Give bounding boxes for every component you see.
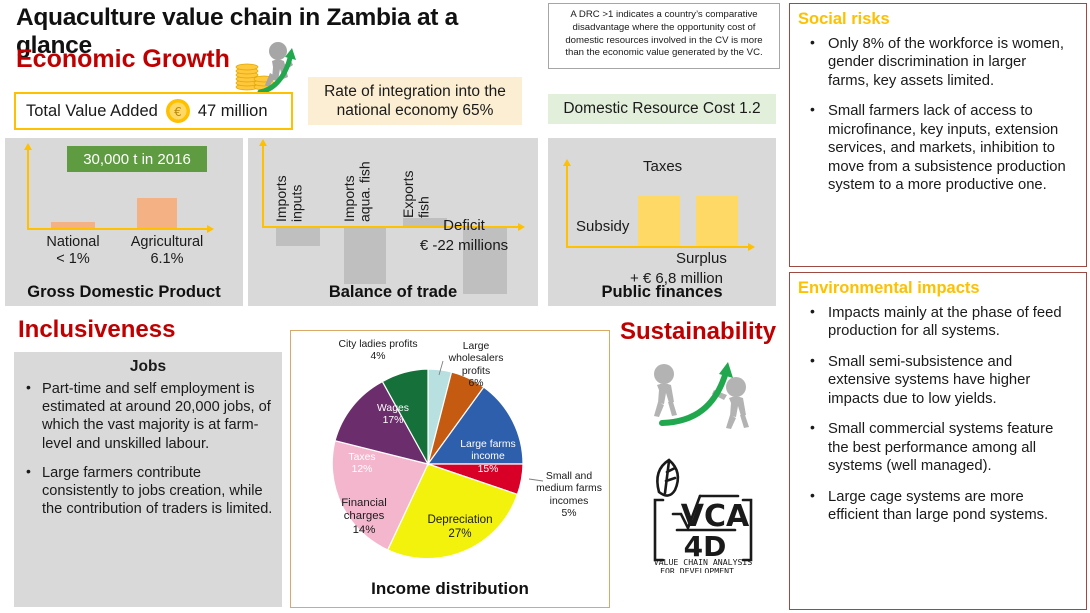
jobs-heading: Jobs bbox=[14, 352, 282, 378]
svg-text:€: € bbox=[174, 105, 182, 119]
pie-label-depreciation: Depreciation 27% bbox=[417, 513, 503, 540]
gdp-label-agricultural: Agricultural 6.1% bbox=[111, 234, 223, 269]
list-item: Large cage systems are more efficient th… bbox=[806, 488, 1070, 525]
pie-label-taxes: Taxes 12% bbox=[333, 452, 391, 477]
vca-logo-tagline2: FOR DEVELOPMENT bbox=[660, 566, 734, 573]
euro-coin-icon: € bbox=[165, 98, 191, 124]
list-item: Small farmers lack of access to microfin… bbox=[806, 102, 1070, 194]
balance-of-trade-panel: Imports inputs Imports aqua. fish Export… bbox=[248, 138, 538, 306]
pf-label-taxes: Taxes bbox=[643, 158, 682, 175]
list-item: Small semi-subsistence and extensive sys… bbox=[806, 353, 1070, 408]
list-item: Part-time and self employment is estimat… bbox=[22, 380, 274, 453]
pf-x-axis-arrow-icon bbox=[748, 243, 755, 251]
bot-deficit-annotation: Deficit € -22 millions bbox=[398, 216, 530, 255]
pf-bar-taxes bbox=[638, 196, 680, 246]
pie-label-small-medium-farms: Small and medium farms incomes 5% bbox=[531, 471, 607, 520]
bot-bar-imports-aqua-fish bbox=[344, 228, 386, 284]
gdp-x-axis-arrow-icon bbox=[207, 225, 214, 233]
gdp-label-national: National < 1% bbox=[27, 234, 119, 269]
pie-chart-caption: Income distribution bbox=[291, 579, 609, 599]
total-value-added-value: 47 million bbox=[198, 102, 268, 121]
vca4d-logo: VCA 4D VALUE CHAIN ANALYSIS FOR DEVELOPM… bbox=[645, 448, 765, 573]
bot-label-exports-fish: Exports fish bbox=[401, 148, 432, 218]
two-people-pushing-green-arrow-icon bbox=[640, 360, 770, 430]
gdp-bar-national bbox=[51, 222, 95, 228]
jobs-panel: Jobs Part-time and self employment is es… bbox=[14, 352, 282, 607]
bot-bar-imports-inputs bbox=[276, 228, 320, 246]
pie-label-financial-charges: Financial charges 14% bbox=[329, 497, 399, 537]
public-finances-panel: Taxes Subsidy Surplus + € 6,8 million Pu… bbox=[548, 138, 776, 306]
bot-y-axis-arrow-icon bbox=[259, 139, 267, 146]
environmental-impacts-panel: Environmental impacts Impacts mainly at … bbox=[789, 272, 1087, 610]
bot-panel-caption: Balance of trade bbox=[248, 283, 538, 302]
list-item: Only 8% of the workforce is women, gende… bbox=[806, 35, 1070, 90]
list-item: Large farmers contribute consistently to… bbox=[22, 464, 274, 519]
gdp-y-axis-arrow-icon bbox=[24, 143, 32, 150]
jobs-bullet-list: Part-time and self employment is estimat… bbox=[14, 378, 282, 519]
total-value-added-box: Total Value Added € 47 million bbox=[14, 92, 293, 130]
gdp-x-axis bbox=[27, 228, 207, 230]
pf-bar-surplus bbox=[696, 196, 738, 246]
economic-growth-title: Economic Growth bbox=[16, 45, 230, 74]
pie-label-large-farms: Large farms income 15% bbox=[455, 439, 521, 476]
production-badge: 30,000 t in 2016 bbox=[67, 146, 207, 172]
climbing-man-with-coins-icon bbox=[234, 40, 304, 98]
list-item: Small commercial systems feature the bes… bbox=[806, 420, 1070, 475]
list-item: Impacts mainly at the phase of feed prod… bbox=[806, 304, 1070, 341]
social-risks-panel: Social risks Only 8% of the workforce is… bbox=[789, 3, 1087, 267]
bot-label-imports-aqua-fish: Imports aqua. fish bbox=[342, 142, 373, 222]
gross-domestic-product-panel: 30,000 t in 2016 National < 1% Agricultu… bbox=[5, 138, 243, 306]
income-distribution-panel: City ladies profits 4% Large wholesalers… bbox=[290, 330, 610, 608]
pie-label-city-ladies: City ladies profits 4% bbox=[337, 339, 419, 364]
gdp-panel-caption: Gross Domestic Product bbox=[5, 283, 243, 302]
inclusiveness-title: Inclusiveness bbox=[18, 316, 175, 344]
social-risks-title: Social risks bbox=[798, 10, 1078, 29]
social-risks-bullet-list: Only 8% of the workforce is women, gende… bbox=[798, 33, 1078, 195]
pf-panel-caption: Public finances bbox=[548, 283, 776, 302]
environmental-impacts-bullet-list: Impacts mainly at the phase of feed prod… bbox=[798, 302, 1078, 525]
vca-logo-line1: VCA bbox=[681, 499, 750, 534]
pie-label-large-wholesalers: Large wholesalers profits 6% bbox=[437, 341, 515, 390]
pf-x-axis bbox=[566, 246, 748, 248]
pf-label-surplus: Surplus bbox=[676, 250, 727, 267]
bot-label-imports-inputs: Imports inputs bbox=[274, 148, 305, 222]
pf-y-axis bbox=[566, 166, 568, 248]
rate-of-integration-box: Rate of integration into the national ec… bbox=[308, 77, 522, 125]
drc-explanation-note: A DRC >1 indicates a country’s comparati… bbox=[548, 3, 780, 69]
gdp-bar-agricultural bbox=[137, 198, 177, 228]
sustainability-title: Sustainability bbox=[620, 318, 776, 346]
gdp-y-axis bbox=[27, 150, 29, 230]
total-value-added-label: Total Value Added bbox=[16, 102, 158, 121]
pie-label-wages: Wages 17% bbox=[363, 403, 423, 428]
environmental-impacts-title: Environmental impacts bbox=[798, 279, 1078, 298]
pf-y-axis-arrow-icon bbox=[563, 159, 571, 166]
domestic-resource-cost-box: Domestic Resource Cost 1.2 bbox=[548, 94, 776, 124]
bot-y-axis bbox=[262, 146, 264, 228]
pf-label-subsidy: Subsidy bbox=[576, 218, 629, 235]
